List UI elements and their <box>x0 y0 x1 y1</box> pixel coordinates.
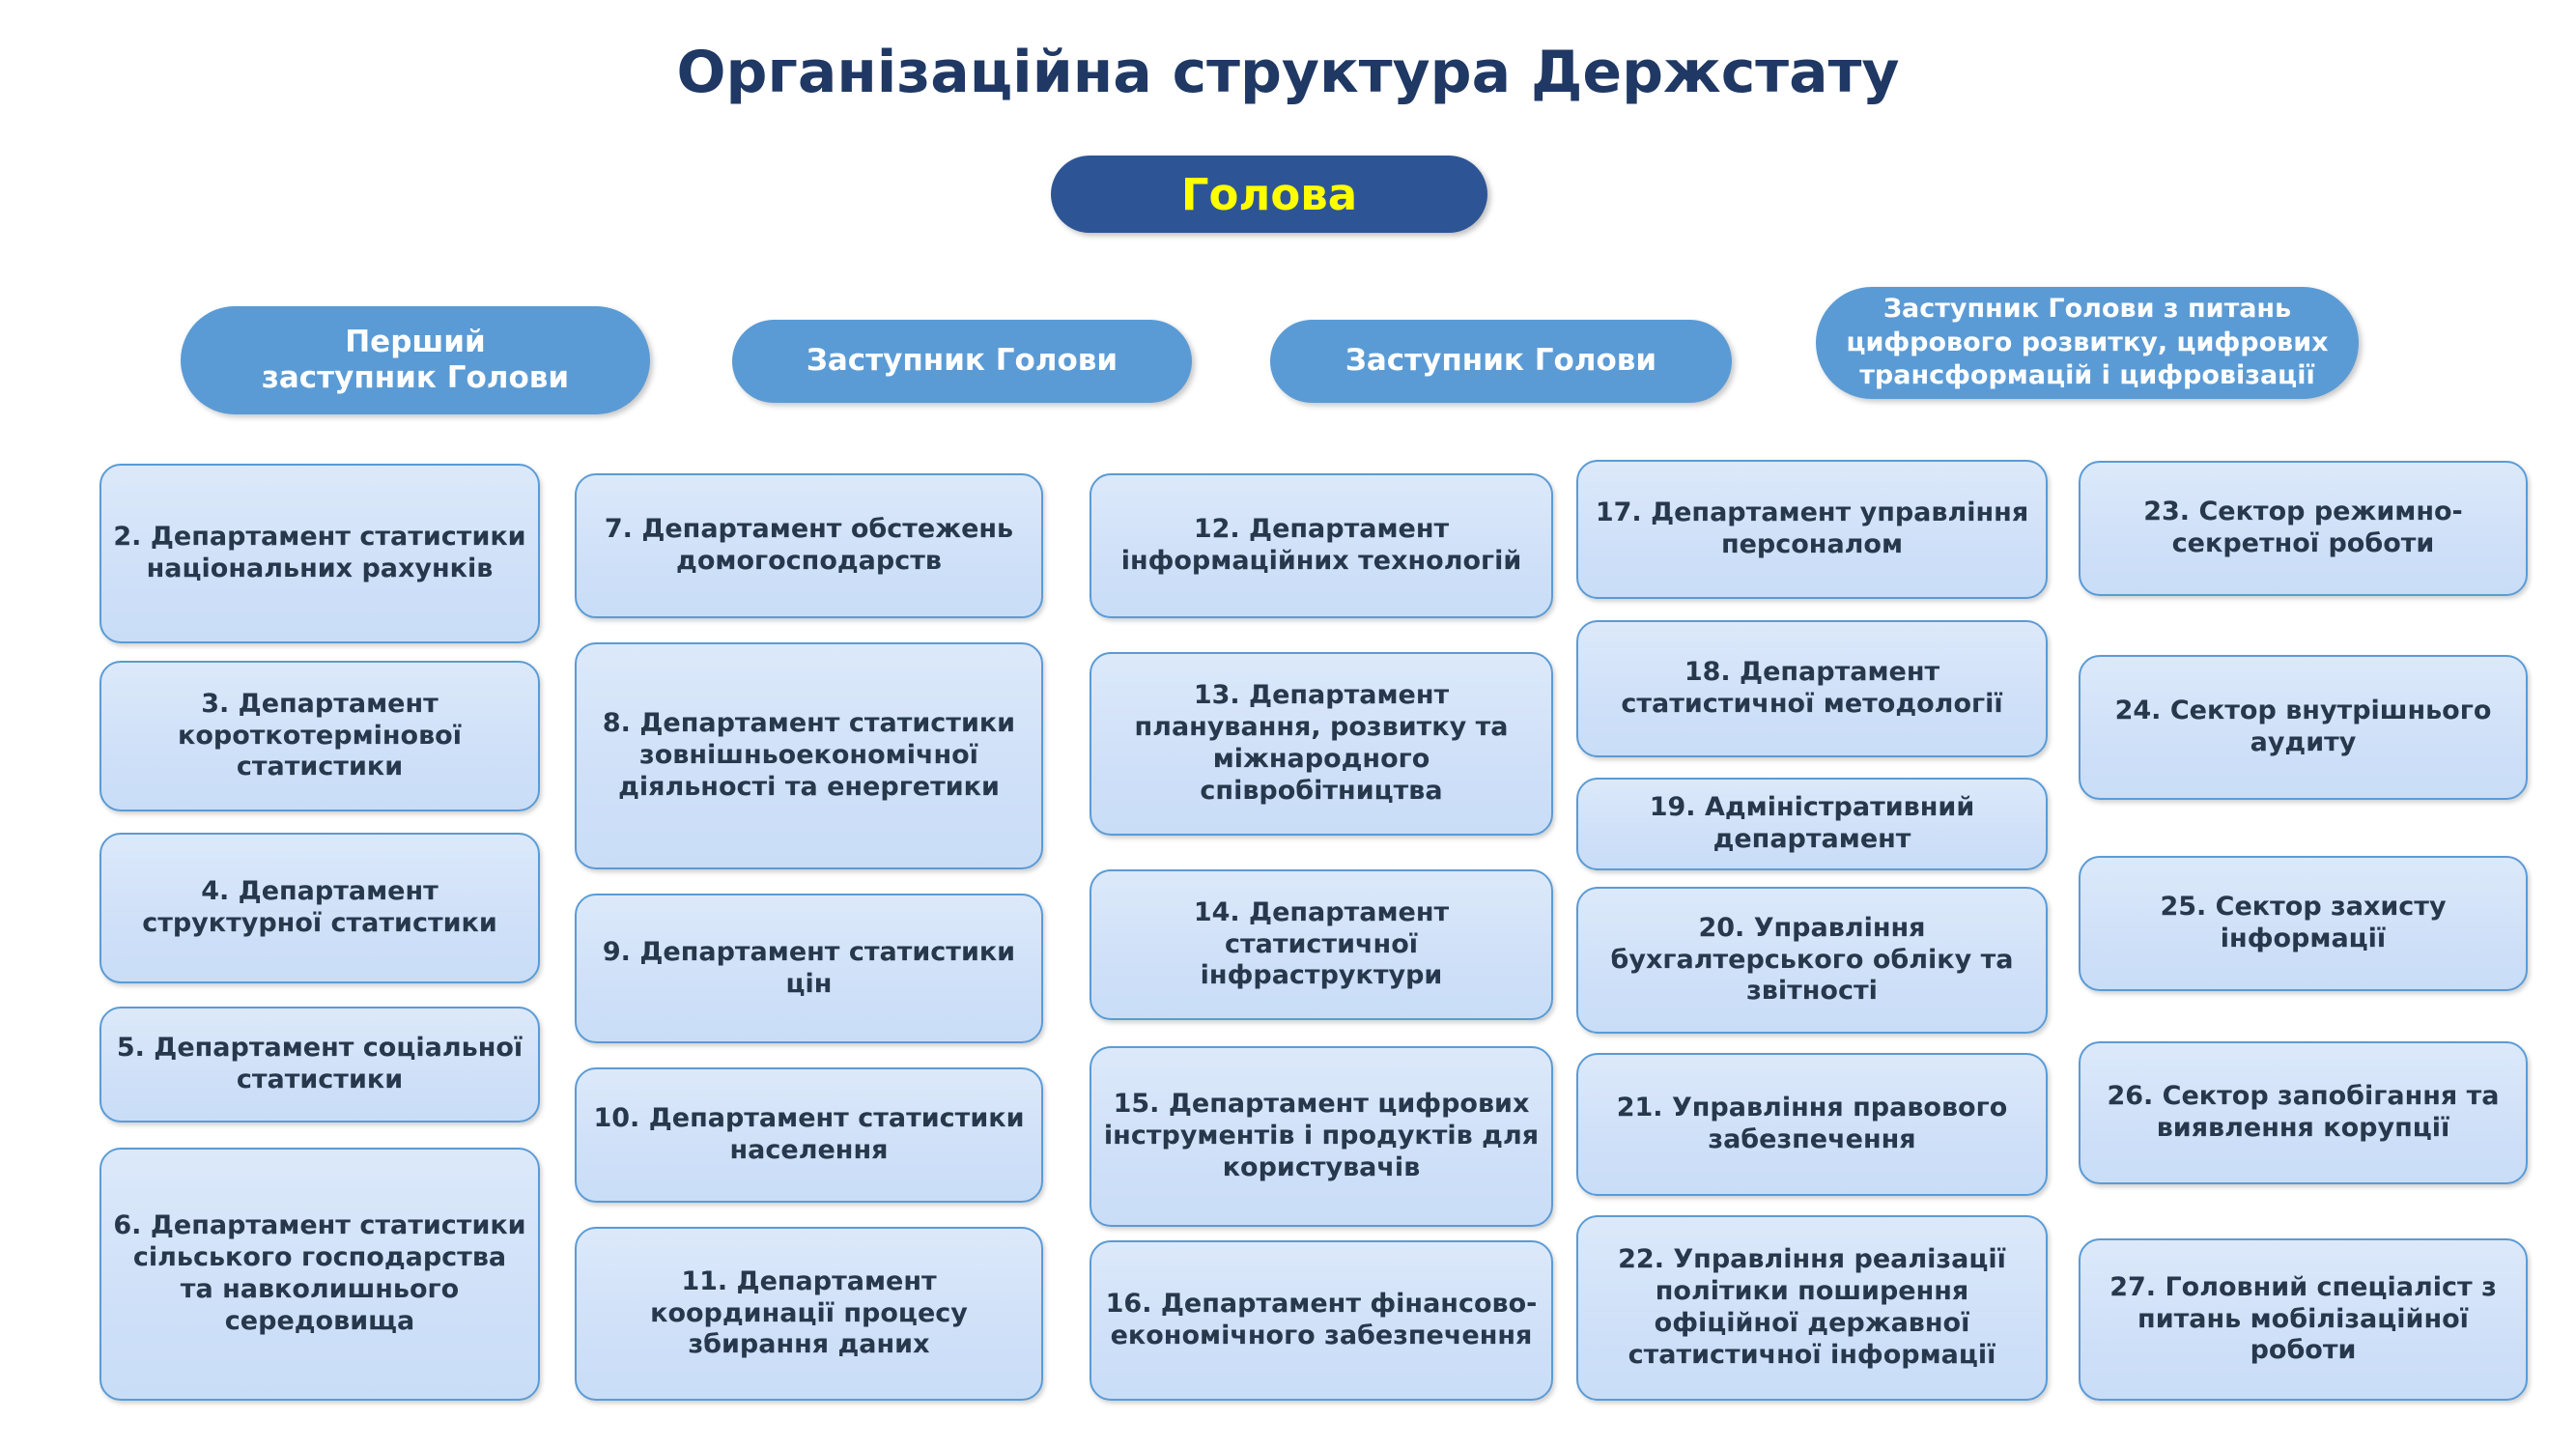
unit-label-20: 20. Управління бухгалтерського обліку та… <box>1590 913 2034 1009</box>
unit-box-7[interactable]: 7. Департамент обстежень домогосподарств <box>575 473 1043 618</box>
unit-label-17: 17. Департамент управління персоналом <box>1590 497 2034 561</box>
unit-label-10: 10. Департамент статистики населення <box>588 1103 1030 1167</box>
unit-box-9[interactable]: 9. Департамент статистики цін <box>575 894 1043 1043</box>
unit-label-13: 13. Департамент планування, розвитку та … <box>1103 680 1540 808</box>
node-deputy-second[interactable]: Заступник Голови <box>732 320 1192 403</box>
unit-box-27[interactable]: 27. Головний спеціаліст з питань мобіліз… <box>2079 1238 2528 1401</box>
node-deputy-second-label: Заступник Голови <box>807 343 1118 379</box>
unit-label-8: 8. Департамент статистики зовнішньоеконо… <box>588 708 1030 804</box>
node-deputy-third-label: Заступник Голови <box>1345 343 1656 379</box>
unit-box-21[interactable]: 21. Управління правового забезпечення <box>1576 1053 2048 1196</box>
node-deputy-digital-label: Заступник Голови з питань цифрового розв… <box>1833 293 2341 393</box>
unit-label-22: 22. Управління реалізації політики пошир… <box>1590 1244 2034 1372</box>
unit-label-9: 9. Департамент статистики цін <box>588 937 1030 1001</box>
unit-label-4: 4. Департамент структурної статистики <box>113 876 526 940</box>
unit-label-18: 18. Департамент статистичної методології <box>1590 657 2034 721</box>
unit-box-8[interactable]: 8. Департамент статистики зовнішньоеконо… <box>575 642 1043 869</box>
unit-box-2[interactable]: 2. Департамент статистики національних р… <box>99 464 540 643</box>
unit-box-6[interactable]: 6. Департамент статистики сільського гос… <box>99 1148 540 1401</box>
unit-label-27: 27. Головний спеціаліст з питань мобіліз… <box>2092 1272 2514 1368</box>
node-head-label: Голова <box>1181 173 1357 216</box>
unit-box-26[interactable]: 26. Сектор запобігання та виявлення кору… <box>2079 1041 2528 1184</box>
page-title: Організаційна структура Держстату <box>0 41 2576 104</box>
unit-box-20[interactable]: 20. Управління бухгалтерського обліку та… <box>1576 887 2048 1034</box>
unit-label-25: 25. Сектор захисту інформації <box>2092 892 2514 955</box>
unit-label-24: 24. Сектор внутрішнього аудиту <box>2092 696 2514 759</box>
unit-label-23: 23. Сектор режимно-секретної роботи <box>2092 497 2514 560</box>
unit-box-25[interactable]: 25. Сектор захисту інформації <box>2079 856 2528 991</box>
unit-label-5: 5. Департамент соціальної статистики <box>113 1033 526 1096</box>
unit-label-3: 3. Департамент короткотермінової статист… <box>113 689 526 784</box>
unit-label-15: 15. Департамент цифрових інструментів і … <box>1103 1089 1540 1184</box>
unit-box-18[interactable]: 18. Департамент статистичної методології <box>1576 620 2048 757</box>
unit-box-22[interactable]: 22. Управління реалізації політики пошир… <box>1576 1215 2048 1401</box>
unit-box-15[interactable]: 15. Департамент цифрових інструментів і … <box>1090 1046 1553 1227</box>
unit-box-14[interactable]: 14. Департамент статистичної інфраструкт… <box>1090 869 1553 1020</box>
unit-label-11: 11. Департамент координації процесу збир… <box>588 1266 1030 1362</box>
unit-box-5[interactable]: 5. Департамент соціальної статистики <box>99 1007 540 1122</box>
unit-label-14: 14. Департамент статистичної інфраструкт… <box>1103 897 1540 993</box>
unit-box-19[interactable]: 19. Адміністративний департамент <box>1576 778 2048 870</box>
node-deputy-first-label: Перший заступник Голови <box>262 325 569 396</box>
unit-box-10[interactable]: 10. Департамент статистики населення <box>575 1067 1043 1203</box>
unit-box-3[interactable]: 3. Департамент короткотермінової статист… <box>99 661 540 811</box>
unit-box-4[interactable]: 4. Департамент структурної статистики <box>99 833 540 983</box>
unit-label-6: 6. Департамент статистики сільського гос… <box>113 1210 526 1338</box>
node-head[interactable]: Голова <box>1051 156 1487 233</box>
unit-box-11[interactable]: 11. Департамент координації процесу збир… <box>575 1227 1043 1401</box>
unit-label-2: 2. Департамент статистики національних р… <box>113 522 526 585</box>
unit-label-16: 16. Департамент фінансово-економічного з… <box>1103 1289 1540 1352</box>
unit-box-17[interactable]: 17. Департамент управління персоналом <box>1576 460 2048 599</box>
unit-label-12: 12. Департамент інформаційних технологій <box>1103 514 1540 578</box>
unit-label-19: 19. Адміністративний департамент <box>1590 792 2034 856</box>
unit-box-16[interactable]: 16. Департамент фінансово-економічного з… <box>1090 1240 1553 1401</box>
unit-box-13[interactable]: 13. Департамент планування, розвитку та … <box>1090 652 1553 836</box>
node-deputy-digital[interactable]: Заступник Голови з питань цифрового розв… <box>1816 287 2359 399</box>
unit-label-26: 26. Сектор запобігання та виявлення кору… <box>2092 1081 2514 1145</box>
unit-label-21: 21. Управління правового забезпечення <box>1590 1093 2034 1156</box>
org-chart-root: Організаційна структура Держстату Голова… <box>0 0 2576 1449</box>
unit-box-24[interactable]: 24. Сектор внутрішнього аудиту <box>2079 655 2528 800</box>
unit-box-12[interactable]: 12. Департамент інформаційних технологій <box>1090 473 1553 618</box>
unit-label-7: 7. Департамент обстежень домогосподарств <box>588 514 1030 578</box>
unit-box-23[interactable]: 23. Сектор режимно-секретної роботи <box>2079 461 2528 596</box>
node-deputy-first[interactable]: Перший заступник Голови <box>181 306 650 414</box>
node-deputy-third[interactable]: Заступник Голови <box>1270 320 1732 403</box>
